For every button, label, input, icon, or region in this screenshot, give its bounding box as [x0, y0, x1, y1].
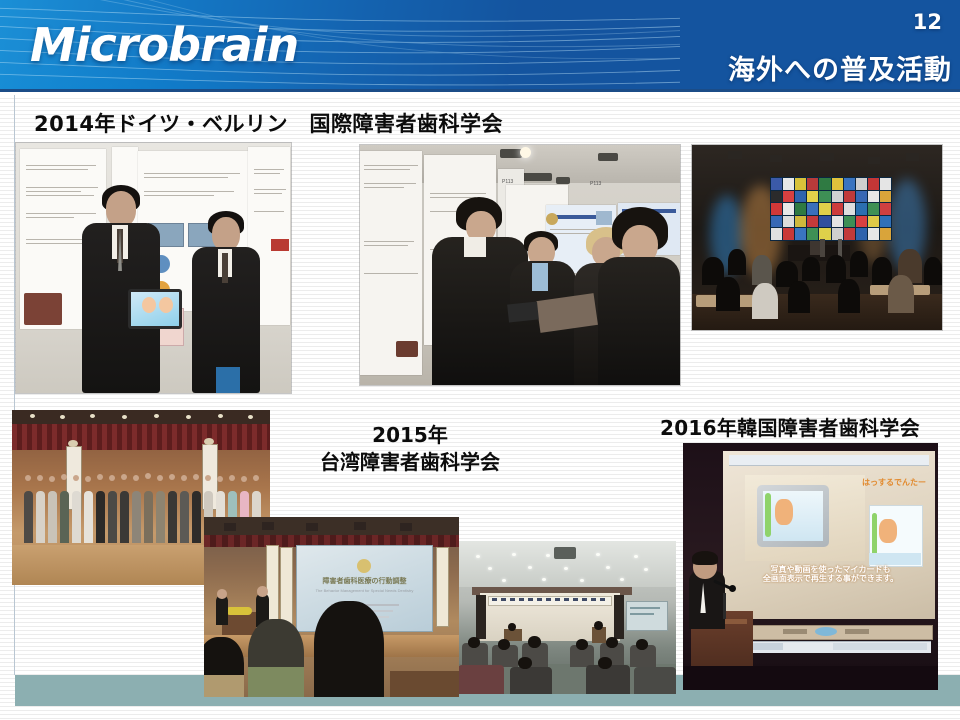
- slide-root: Microbrain 12 海外への普及活動 2014年ドイツ・ベルリン 国際障…: [0, 0, 960, 720]
- microbrain-logo: Microbrain: [30, 18, 298, 72]
- page-title: 海外への普及活動: [728, 48, 952, 87]
- slide-header: Microbrain 12 海外への普及活動: [0, 0, 960, 92]
- photo-berlin-lecture-hall: [692, 145, 942, 330]
- booth-sign-label: P113: [590, 181, 601, 187]
- photo-taiwan-auditorium: [458, 541, 676, 694]
- section-heading-berlin-2014: 2014年ドイツ・ベルリン 国際障害者歯科学会: [34, 108, 503, 138]
- page-number: 12: [913, 10, 942, 34]
- app-brand-label: はっするでんたー: [859, 477, 929, 495]
- photo-taiwan-lecture: 障害者歯科医療の行動調整 The Behavior Management for…: [204, 517, 459, 697]
- photo-berlin-poster-discussion: P113 P113: [360, 145, 680, 385]
- photo-korea-presentation: はっするでんたー 写真や動画を使ったマイカードも 全画面表示で再生する事ができま…: [683, 443, 938, 690]
- photo-berlin-poster-presenters: [16, 143, 291, 393]
- section-heading-taiwan-2015: 2015年 台湾障害者歯科学会: [320, 422, 500, 476]
- header-bottom-rule: [0, 89, 960, 92]
- section-heading-korea-2016: 2016年韓国障害者歯科学会: [660, 412, 920, 441]
- left-margin-rule: [14, 95, 15, 675]
- flags-screen: [770, 177, 892, 241]
- screen-caption-text: 写真や動画を使ったマイカードも 全画面表示で再生する事ができます。: [733, 565, 928, 583]
- slide-subtitle-text: The Behavior Management for Special Need…: [303, 588, 426, 593]
- slide-title-text: 障害者歯科医療の行動調整: [303, 576, 426, 586]
